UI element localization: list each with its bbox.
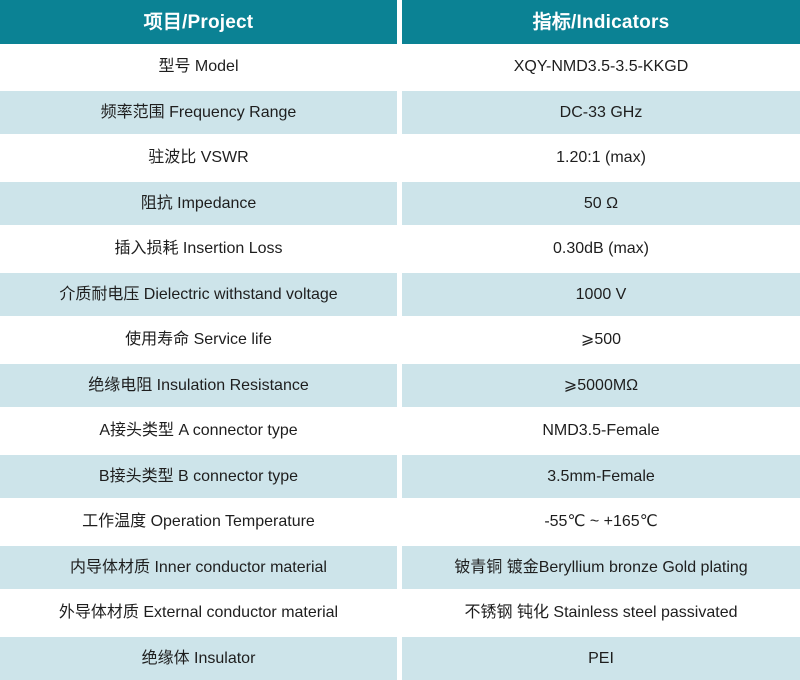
table-row: 使用寿命 Service life⩾500 [0, 318, 800, 362]
table-row: 插入损耗 Insertion Loss0.30dB (max) [0, 227, 800, 271]
cell-indicator: 1.20:1 (max) [402, 136, 800, 180]
table-row: B接头类型 B connector type3.5mm-Female [0, 455, 800, 499]
cell-project: 介质耐电压 Dielectric withstand voltage [0, 273, 397, 317]
table-body: 型号 ModelXQY-NMD3.5-3.5-KKGD频率范围 Frequenc… [0, 44, 800, 680]
cell-indicator: 50 Ω [402, 182, 800, 226]
cell-indicator: PEI [402, 637, 800, 680]
cell-indicator: 不锈钢 钝化 Stainless steel passivated [402, 591, 800, 635]
cell-project: 使用寿命 Service life [0, 318, 397, 362]
cell-project: A接头类型 A connector type [0, 409, 397, 453]
table-row: 内导体材质 Inner conductor material铍青铜 镀金Bery… [0, 546, 800, 590]
table-row: 频率范围 Frequency RangeDC-33 GHz [0, 91, 800, 135]
cell-indicator: 0.30dB (max) [402, 227, 800, 271]
cell-project: 驻波比 VSWR [0, 136, 397, 180]
cell-indicator: NMD3.5-Female [402, 409, 800, 453]
cell-indicator: -55℃ ~ +165℃ [402, 500, 800, 544]
table-row: 型号 ModelXQY-NMD3.5-3.5-KKGD [0, 45, 800, 89]
table-row: 外导体材质 External conductor material不锈钢 钝化 … [0, 591, 800, 635]
table-row: A接头类型 A connector typeNMD3.5-Female [0, 409, 800, 453]
cell-indicator: 3.5mm-Female [402, 455, 800, 499]
table-row: 绝缘电阻 Insulation Resistance⩾5000MΩ [0, 364, 800, 408]
column-header-project: 项目/Project [0, 0, 397, 44]
cell-project: 外导体材质 External conductor material [0, 591, 397, 635]
specification-table: 项目/Project 指标/Indicators 型号 ModelXQY-NMD… [0, 0, 800, 680]
cell-project: 型号 Model [0, 45, 397, 89]
cell-project: 插入损耗 Insertion Loss [0, 227, 397, 271]
cell-project: 内导体材质 Inner conductor material [0, 546, 397, 590]
table-row: 驻波比 VSWR1.20:1 (max) [0, 136, 800, 180]
table-header-row: 项目/Project 指标/Indicators [0, 0, 800, 44]
cell-indicator: XQY-NMD3.5-3.5-KKGD [402, 45, 800, 89]
cell-project: 频率范围 Frequency Range [0, 91, 397, 135]
table-row: 介质耐电压 Dielectric withstand voltage1000 V [0, 273, 800, 317]
table-row: 阻抗 Impedance50 Ω [0, 182, 800, 226]
cell-project: 绝缘体 Insulator [0, 637, 397, 680]
cell-project: 绝缘电阻 Insulation Resistance [0, 364, 397, 408]
cell-indicator: 铍青铜 镀金Beryllium bronze Gold plating [402, 546, 800, 590]
table-row: 工作温度 Operation Temperature-55℃ ~ +165℃ [0, 500, 800, 544]
cell-indicator: 1000 V [402, 273, 800, 317]
cell-project: 阻抗 Impedance [0, 182, 397, 226]
cell-indicator: ⩾500 [402, 318, 800, 362]
cell-project: B接头类型 B connector type [0, 455, 397, 499]
cell-indicator: ⩾5000MΩ [402, 364, 800, 408]
cell-indicator: DC-33 GHz [402, 91, 800, 135]
column-header-indicators: 指标/Indicators [402, 0, 800, 44]
cell-project: 工作温度 Operation Temperature [0, 500, 397, 544]
table-row: 绝缘体 InsulatorPEI [0, 637, 800, 680]
